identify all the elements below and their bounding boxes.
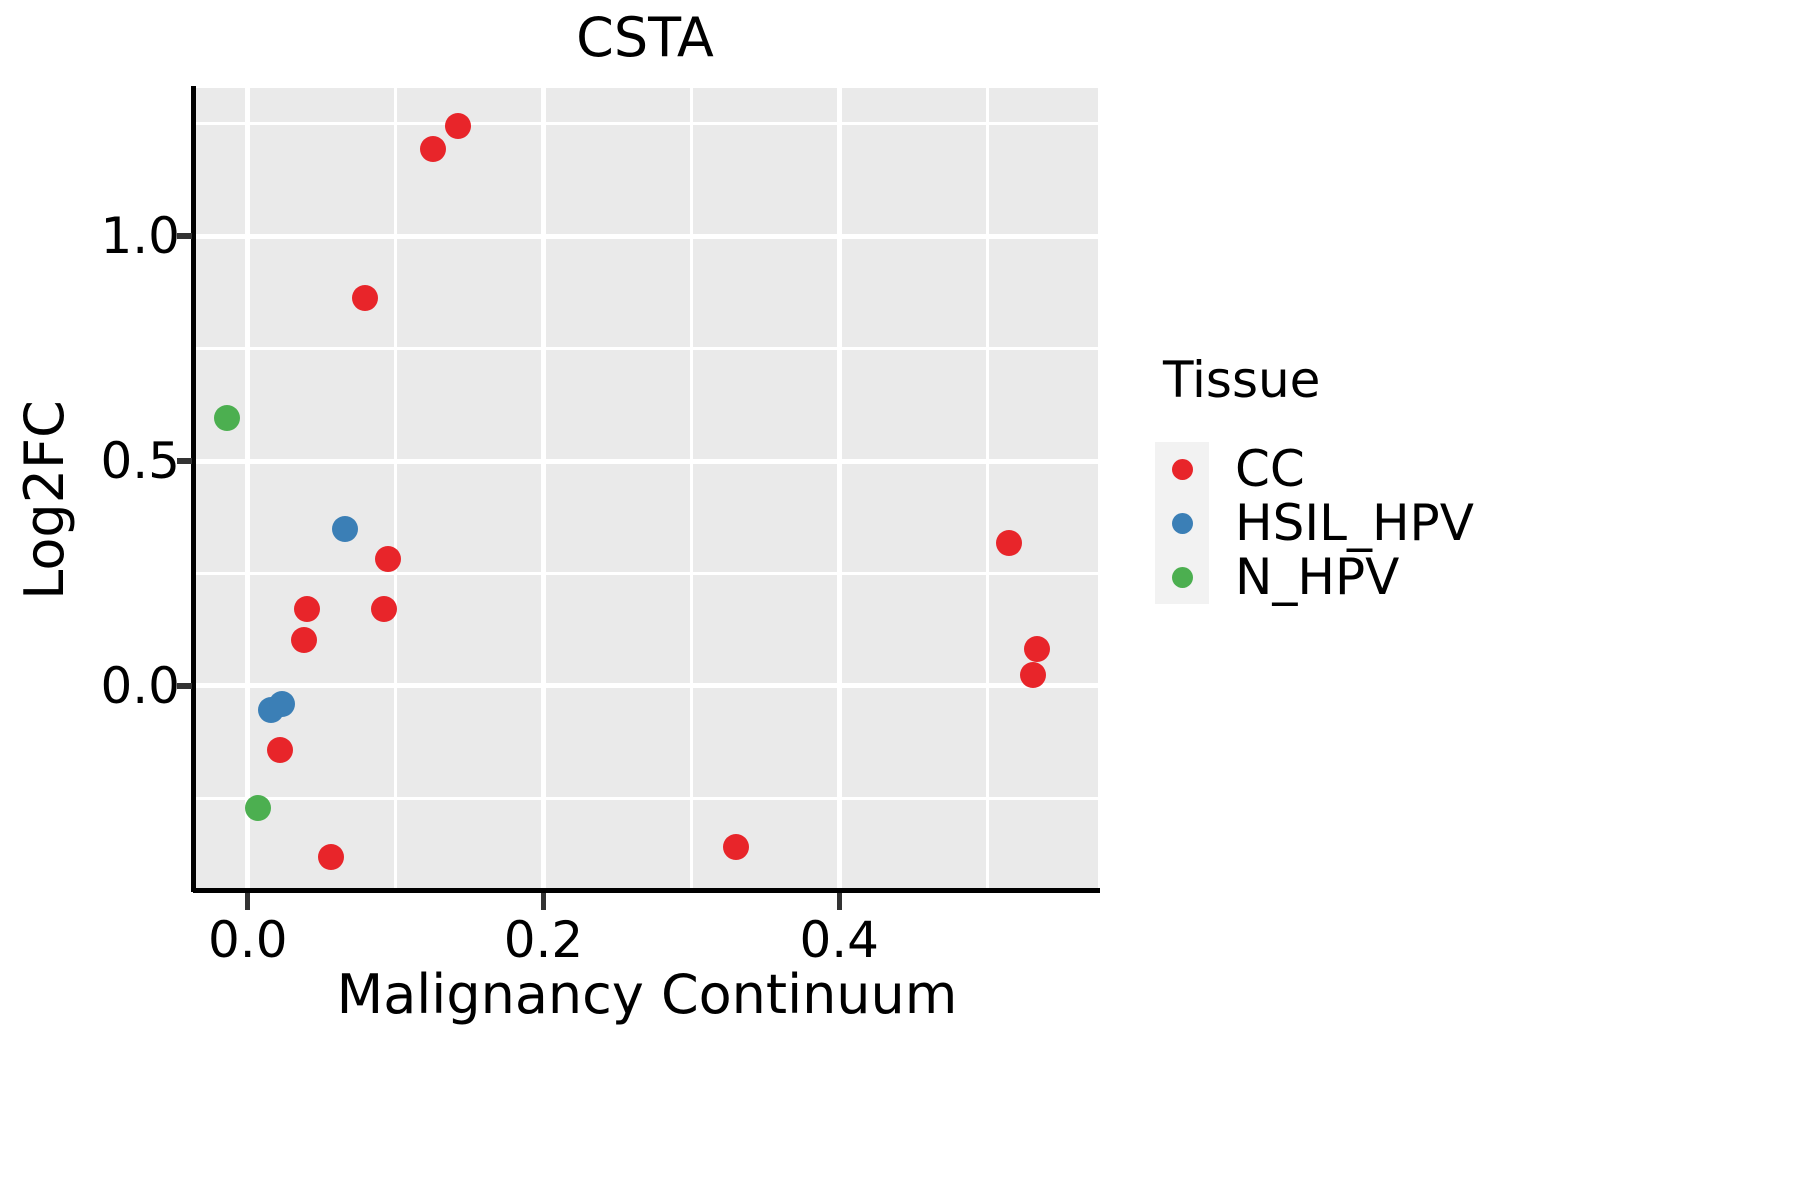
gridline-major-horizontal — [196, 683, 1098, 688]
legend-item-hsil_hpv[interactable]: HSIL_HPV — [1155, 496, 1775, 550]
x-tick-mark — [245, 893, 250, 910]
gridline-major-vertical — [541, 88, 546, 888]
legend-key-box — [1155, 550, 1209, 604]
x-axis-line — [193, 888, 1100, 893]
legend-dot-icon — [1172, 459, 1193, 480]
legend: Tissue CCHSIL_HPVN_HPV — [1155, 352, 1775, 604]
page-title: CSTA — [0, 8, 1290, 68]
legend-title: Tissue — [1163, 352, 1775, 408]
gridline-minor-vertical — [690, 88, 693, 888]
data-point-cc — [291, 627, 317, 653]
gridline-minor-horizontal — [196, 122, 1098, 125]
gridline-minor-vertical — [394, 88, 397, 888]
x-tick-label: 0.0 — [148, 915, 348, 965]
data-point-cc — [318, 844, 344, 870]
x-tick-label: 0.4 — [739, 915, 939, 965]
data-point-n_hpv — [214, 405, 240, 431]
legend-item-cc[interactable]: CC — [1155, 442, 1775, 496]
data-point-cc — [352, 285, 378, 311]
legend-key-box — [1155, 442, 1209, 496]
gridline-major-horizontal — [196, 234, 1098, 239]
legend-label: N_HPV — [1235, 550, 1399, 604]
gridline-major-horizontal — [196, 459, 1098, 464]
y-axis-title: Log2FC — [15, 300, 75, 700]
legend-items: CCHSIL_HPVN_HPV — [1155, 442, 1775, 604]
x-tick-label: 0.2 — [443, 915, 643, 965]
data-point-cc — [996, 530, 1022, 556]
legend-item-n_hpv[interactable]: N_HPV — [1155, 550, 1775, 604]
data-point-cc — [1024, 636, 1050, 662]
data-point-cc — [267, 737, 293, 763]
gridline-minor-horizontal — [196, 797, 1098, 800]
legend-label: CC — [1235, 442, 1305, 496]
data-point-cc — [723, 834, 749, 860]
data-point-cc — [371, 596, 397, 622]
scatter-plot-figure: CSTA 0.00.51.00.00.20.4 Malignancy Conti… — [0, 0, 1800, 1200]
x-axis-title: Malignancy Continuum — [196, 965, 1098, 1025]
legend-label: HSIL_HPV — [1235, 496, 1474, 550]
legend-dot-icon — [1172, 567, 1193, 588]
legend-dot-icon — [1172, 513, 1193, 534]
data-point-cc — [1020, 662, 1046, 688]
gridline-minor-horizontal — [196, 347, 1098, 350]
data-point-cc — [294, 596, 320, 622]
y-axis-line — [191, 86, 196, 892]
data-point-n_hpv — [245, 795, 271, 821]
data-point-cc — [375, 546, 401, 572]
data-point-cc — [445, 113, 471, 139]
data-point-cc — [420, 136, 446, 162]
data-point-hsil_hpv — [332, 516, 358, 542]
gridline-major-vertical — [837, 88, 842, 888]
gridline-major-vertical — [245, 88, 250, 888]
gridline-minor-vertical — [986, 88, 989, 888]
legend-key-box — [1155, 496, 1209, 550]
data-point-hsil_hpv — [269, 691, 295, 717]
x-tick-mark — [541, 893, 546, 910]
plot-panel — [196, 88, 1098, 888]
y-tick-label: 1.0 — [0, 211, 180, 261]
gridline-minor-horizontal — [196, 572, 1098, 575]
x-tick-mark — [837, 893, 842, 910]
